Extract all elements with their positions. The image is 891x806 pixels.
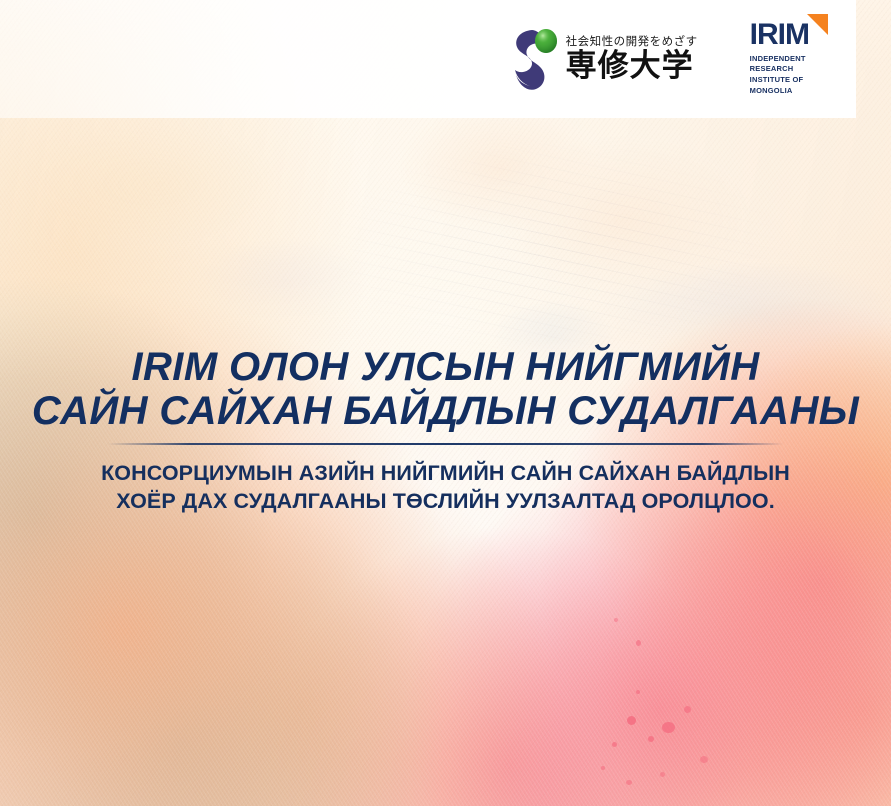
orange-triangle-corner-icon: [807, 14, 828, 35]
pink-paint-splatter: [660, 772, 665, 777]
senshu-s-swoosh-with-green-sphere: [512, 26, 558, 92]
pink-paint-splatter: [700, 756, 708, 763]
pink-paint-splatter: [626, 780, 632, 785]
pink-paint-splatter: [684, 706, 691, 713]
irim-subtitle-line: MONGOLIA: [750, 86, 806, 97]
title-line-2: САЙН САЙХАН БАЙДЛЫН СУДАЛГААНЫ: [0, 389, 891, 433]
senshu-university-logo: 社会知性の開発をめざす 専修大学: [512, 26, 698, 92]
title-line-1: IRIM ОЛОН УЛСЫН НИЙГМИЙН: [0, 345, 891, 389]
title-divider: [108, 443, 783, 445]
irim-subtitle: INDEPENDENT RESEARCH INSTITUTE OF MONGOL…: [750, 54, 806, 98]
pink-paint-splatter: [636, 690, 640, 694]
pink-paint-splatter: [612, 742, 617, 747]
pink-paint-splatter: [627, 716, 636, 725]
irim-subtitle-line: INDEPENDENT: [750, 54, 806, 65]
pink-paint-splatter: [662, 722, 675, 733]
pink-paint-splatter: [601, 766, 605, 770]
subtitle-line-1: КОНСОРЦИУМЫН АЗИЙН НИЙГМИЙН САЙН САЙХАН …: [0, 459, 891, 487]
irim-wordmark-row: IRIM: [750, 21, 828, 50]
poster-title: IRIM ОЛОН УЛСЫН НИЙГМИЙН САЙН САЙХАН БАЙ…: [0, 345, 891, 433]
senshu-text-lockup: 社会知性の開発をめざす 専修大学: [566, 36, 698, 82]
senshu-tagline: 社会知性の開発をめざす: [566, 36, 698, 48]
subtitle-line-2: ХОЁР ДАХ СУДАЛГААНЫ ТӨСЛИЙН УУЛЗАЛТАД ОР…: [0, 487, 891, 515]
pink-paint-splatter: [648, 736, 654, 742]
partner-logos: 社会知性の開発をめざす 専修大学 IRIM INDEPENDENT RESEAR…: [0, 0, 856, 118]
irim-subtitle-line: INSTITUTE OF: [750, 75, 806, 86]
pink-paint-splatter: [636, 640, 641, 646]
poster-canvas: 社会知性の開発をめざす 専修大学 IRIM INDEPENDENT RESEAR…: [0, 0, 891, 806]
irim-subtitle-line: RESEARCH: [750, 64, 806, 75]
senshu-university-name: 専修大学: [566, 51, 698, 82]
irim-logo: IRIM INDEPENDENT RESEARCH INSTITUTE OF M…: [740, 11, 840, 107]
irim-wordmark: IRIM: [750, 21, 809, 50]
poster-subtitle: КОНСОРЦИУМЫН АЗИЙН НИЙГМИЙН САЙН САЙХАН …: [0, 459, 891, 515]
pink-paint-splatter: [614, 618, 618, 622]
